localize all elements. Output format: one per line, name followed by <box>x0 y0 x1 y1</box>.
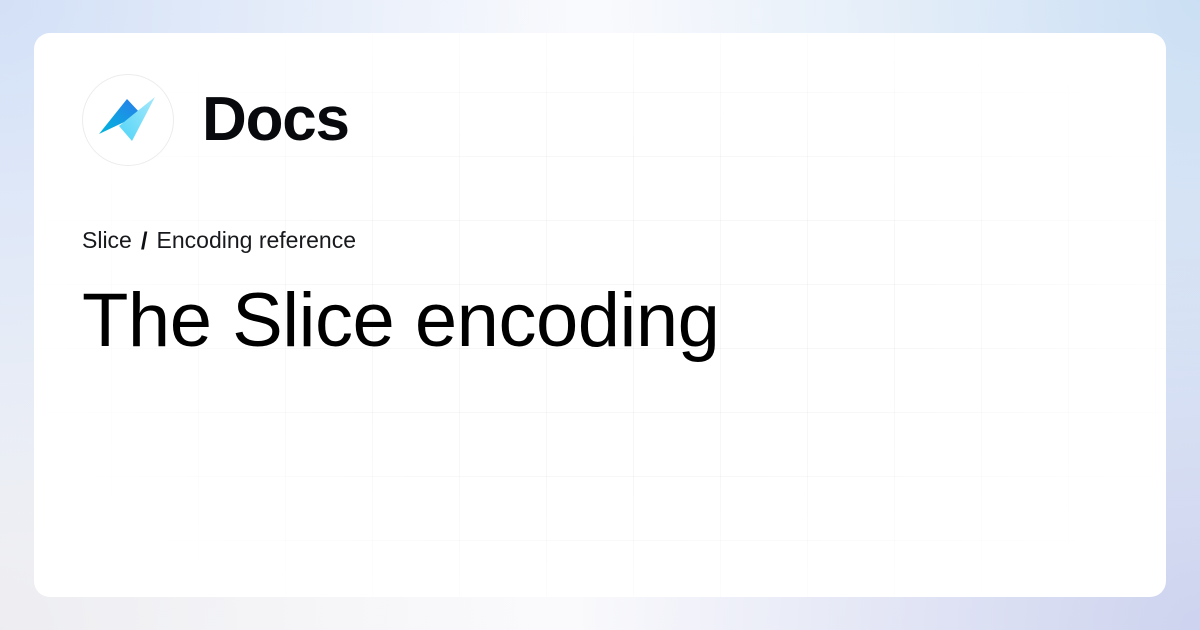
breadcrumb: Slice / Encoding reference <box>82 227 1118 256</box>
content-card: Docs Slice / Encoding reference The Slic… <box>34 33 1166 597</box>
breadcrumb-item-encoding-reference[interactable]: Encoding reference <box>157 227 356 255</box>
paper-plane-logo-icon <box>97 89 159 151</box>
page-title: The Slice encoding <box>82 280 1118 362</box>
brand-title: Docs <box>202 89 349 151</box>
card-content: Docs Slice / Encoding reference The Slic… <box>34 33 1166 597</box>
breadcrumb-separator-icon: / <box>141 228 148 257</box>
og-canvas: Docs Slice / Encoding reference The Slic… <box>0 0 1200 630</box>
brand-row: Docs <box>82 73 1118 167</box>
logo-badge <box>82 74 174 166</box>
breadcrumb-item-slice[interactable]: Slice <box>82 227 132 255</box>
